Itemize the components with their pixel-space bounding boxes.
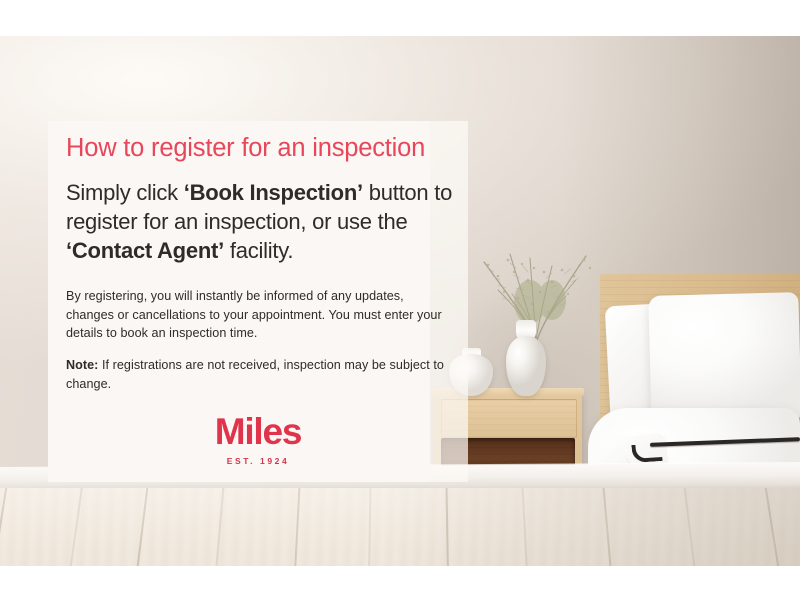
bedroom-photo: How to register for an inspection Simply…: [0, 36, 800, 566]
miles-logo: Miles EST. 1924: [48, 413, 468, 466]
page-title: How to register for an inspection: [66, 134, 466, 162]
logo-wordmark: Miles: [48, 413, 468, 450]
subheading-part-1: Simply click: [66, 180, 184, 205]
body-paragraph: By registering, you will instantly be in…: [66, 287, 454, 343]
subheading: Simply click ‘Book Inspection’ button to…: [66, 178, 462, 265]
contact-agent-label: ‘Contact Agent’: [66, 238, 224, 263]
letterbox-bottom: [0, 566, 800, 600]
floor-shadow: [380, 488, 800, 566]
wood-floor: [0, 488, 800, 566]
note-paragraph: Note: If registrations are not received,…: [66, 356, 454, 393]
note-label: Note:: [66, 358, 98, 372]
text-panel: How to register for an inspection Simply…: [48, 121, 468, 482]
note-text: If registrations are not received, inspe…: [66, 358, 444, 391]
letterbox-top: [0, 0, 800, 36]
screenshot-canvas: How to register for an inspection Simply…: [0, 0, 800, 600]
book-inspection-label: ‘Book Inspection’: [184, 180, 363, 205]
logo-established: EST. 1924: [48, 457, 468, 466]
subheading-part-3: facility.: [224, 238, 293, 263]
tall-vase: [506, 336, 546, 396]
